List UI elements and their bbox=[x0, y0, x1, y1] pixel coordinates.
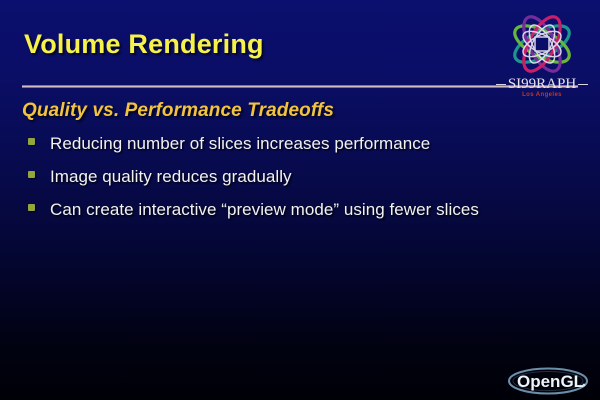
list-item-label: Reducing number of slices increases perf… bbox=[50, 134, 430, 154]
dash-right-icon bbox=[578, 84, 588, 85]
siggraph-wordmark: SI99RAPH bbox=[490, 76, 594, 93]
list-item: Image quality reduces gradually bbox=[28, 167, 588, 200]
svg-text:OpenGL: OpenGL bbox=[517, 372, 584, 391]
bullet-marker-icon bbox=[28, 171, 35, 178]
list-item: Reducing number of slices increases perf… bbox=[28, 134, 588, 167]
siggraph-rings-icon bbox=[490, 10, 594, 80]
bullet-marker-icon bbox=[28, 204, 35, 211]
slide-subtitle: Quality vs. Performance Tradeoffs bbox=[22, 100, 334, 122]
page-title: Volume Rendering bbox=[24, 29, 264, 60]
list-item-label: Image quality reduces gradually bbox=[50, 167, 292, 187]
slide-canvas: Volume Rendering Quality vs. Performance… bbox=[0, 0, 600, 400]
dash-left-icon bbox=[496, 84, 506, 85]
siggraph-logo: SI99RAPH Los Angeles bbox=[490, 10, 594, 102]
bullet-marker-icon bbox=[28, 138, 35, 145]
siggraph-location: Los Angeles bbox=[490, 92, 594, 98]
list-item-label: Can create interactive “preview mode” us… bbox=[50, 200, 479, 220]
list-item: Can create interactive “preview mode” us… bbox=[28, 200, 588, 233]
opengl-logo-icon: OpenGL bbox=[506, 366, 594, 396]
opengl-logo: OpenGL bbox=[506, 366, 594, 396]
siggraph-wordmark-text: SI99RAPH bbox=[508, 76, 576, 92]
bullet-list: Reducing number of slices increases perf… bbox=[28, 134, 588, 233]
